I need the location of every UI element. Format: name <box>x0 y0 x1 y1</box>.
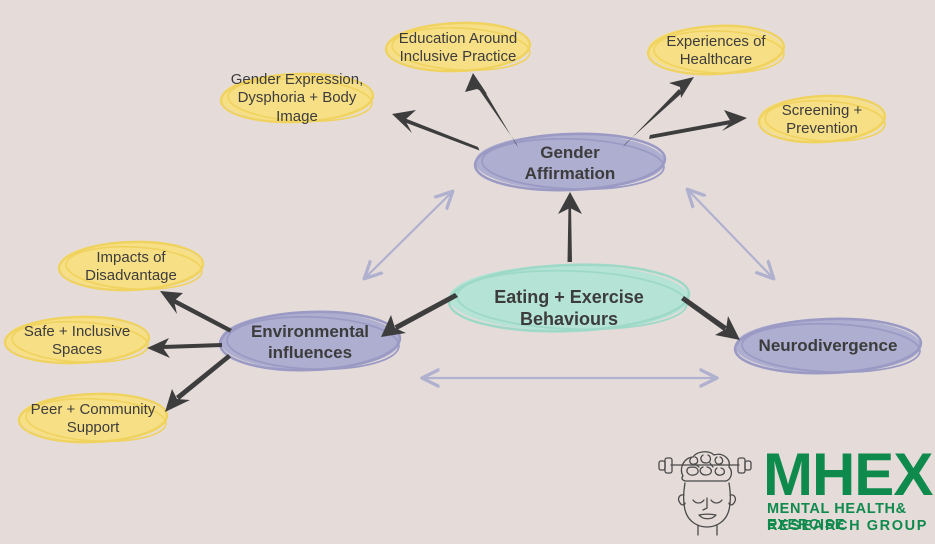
arrow-behaviours-to-gender-affirmation <box>558 192 582 262</box>
link-environmental-gender-affirmation <box>365 192 452 278</box>
arrow-behaviours-to-environmental-influences <box>381 293 458 337</box>
arrow-behaviours-to-neurodivergence <box>681 296 740 340</box>
arrow-environmental-to-impacts <box>160 291 232 333</box>
arrow-gender-affirmation-to-screening <box>649 110 747 139</box>
logo-tagline-line2: RESEARCH GROUP <box>767 518 928 534</box>
arrow-environmental-to-safe-spaces <box>147 338 222 358</box>
leaf-node-education-around-inclusive-practice[interactable] <box>385 21 531 74</box>
mhex-logo: MHEX MENTAL HEALTH& EXERCISE RESEARCH GR… <box>655 443 930 538</box>
core-node-gender-affirmation[interactable] <box>474 131 666 194</box>
arrow-environmental-to-peer-support <box>165 354 231 412</box>
leaf-node-screening-prevention[interactable] <box>758 93 886 146</box>
logo-wordmark: MHEX <box>763 445 932 505</box>
leaf-node-peer-community-support[interactable] <box>18 391 168 444</box>
leaf-node-experiences-of-healthcare[interactable] <box>647 22 785 77</box>
leaf-node-safe-inclusive-spaces[interactable] <box>4 315 150 366</box>
core-node-environmental-influences[interactable] <box>219 309 401 373</box>
core-node-eating-exercise-behaviours[interactable] <box>448 261 690 335</box>
arrow-gender-affirmation-to-gender-expression <box>392 110 480 151</box>
arrow-gender-affirmation-to-education <box>465 73 518 148</box>
head-brain-dumbbell-icon <box>655 443 755 538</box>
leaf-nodes <box>4 21 886 445</box>
link-gender-affirmation-neurodivergence <box>688 190 773 278</box>
leaf-node-gender-expression-dysphoria-body-image[interactable] <box>220 71 374 124</box>
leaf-node-impacts-of-disadvantage[interactable] <box>58 240 204 293</box>
core-node-neurodivergence[interactable] <box>734 316 922 376</box>
